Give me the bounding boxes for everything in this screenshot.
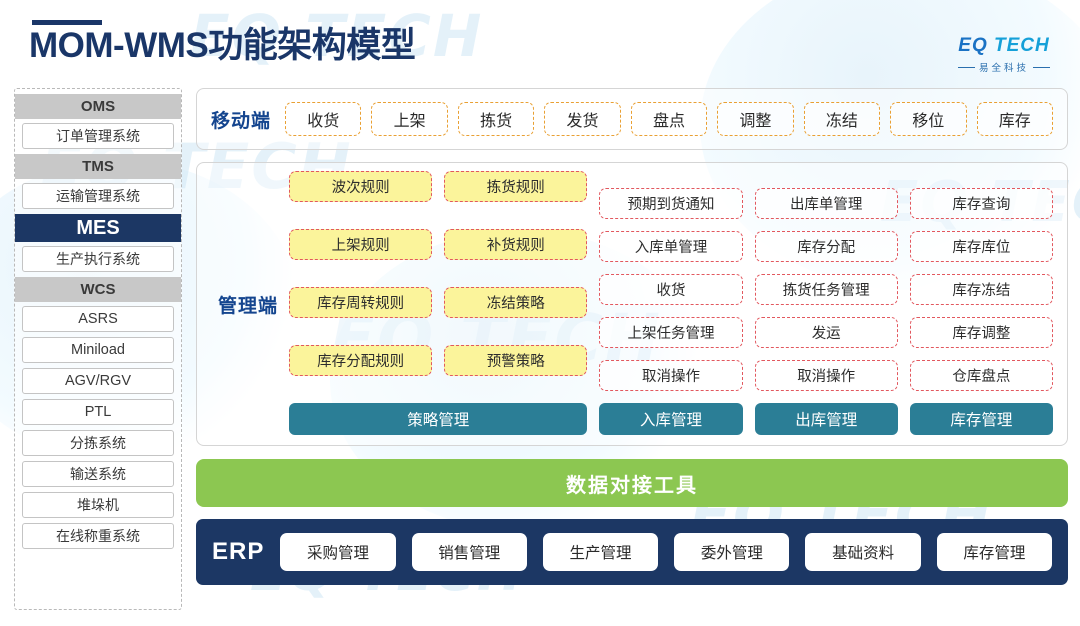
management-cell[interactable]: 预期到货通知 (599, 188, 742, 219)
management-cell[interactable]: 补货规则 (444, 229, 587, 260)
mobile-chip[interactable]: 收货 (285, 102, 361, 136)
management-footer-button[interactable]: 库存管理 (910, 403, 1053, 435)
erp-chip[interactable]: 生产管理 (543, 533, 658, 571)
management-footer-button[interactable]: 出库管理 (755, 403, 898, 435)
erp-chip[interactable]: 基础资料 (805, 533, 920, 571)
management-footer-button[interactable]: 策略管理 (289, 403, 587, 435)
erp-chip[interactable]: 库存管理 (937, 533, 1052, 571)
mobile-chip[interactable]: 库存 (977, 102, 1053, 136)
sidebar-item[interactable]: 堆垛机 (22, 492, 174, 518)
main-content: 移动端 收货上架拣货发货盘点调整冻结移位库存 管理端 波次规则上架规则库存周转规… (196, 88, 1068, 585)
systems-sidebar: OMS订单管理系统TMS运输管理系统MES生产执行系统WCSASRSMinilo… (14, 88, 182, 610)
mobile-chip[interactable]: 调整 (717, 102, 793, 136)
sidebar-item[interactable]: 在线称重系统 (22, 523, 174, 549)
management-cell[interactable]: 取消操作 (599, 360, 742, 391)
mobile-chip[interactable]: 拣货 (458, 102, 534, 136)
management-cell[interactable]: 波次规则 (289, 171, 432, 202)
management-cell[interactable]: 上架规则 (289, 229, 432, 260)
erp-chip-list: 采购管理销售管理生产管理委外管理基础资料库存管理 (280, 533, 1052, 571)
title-accent-rule (32, 20, 102, 25)
management-cell[interactable]: 冻结策略 (444, 287, 587, 318)
management-panel-label: 管理端 (207, 291, 289, 318)
management-column: 出库单管理库存分配拣货任务管理发运取消操作 (755, 171, 898, 403)
sidebar-item[interactable]: ASRS (22, 306, 174, 332)
sidebar-item[interactable]: PTL (22, 399, 174, 425)
page-header: MOM-WMS功能架构模型 EQ TECH 易全科技 (0, 0, 1080, 88)
logo-subtitle-text: 易全科技 (979, 60, 1029, 74)
sidebar-item[interactable]: Miniload (22, 337, 174, 363)
erp-label: ERP (212, 538, 264, 566)
management-column: 库存查询库存库位库存冻结库存调整仓库盘点 (910, 171, 1053, 403)
management-cell[interactable]: 库存库位 (910, 231, 1053, 262)
logo-mark-right: TECH (994, 35, 1050, 56)
management-grid: 波次规则上架规则库存周转规则库存分配规则拣货规则补货规则冻结策略预警策略预期到货… (289, 163, 1053, 445)
management-cell[interactable]: 出库单管理 (755, 188, 898, 219)
logo-mark-left: EQ (958, 35, 987, 56)
sidebar-group-header-wcs[interactable]: WCS (15, 277, 181, 302)
mobile-panel-label: 移动端 (211, 106, 271, 133)
management-cell[interactable]: 入库单管理 (599, 231, 742, 262)
management-cell[interactable]: 拣货规则 (444, 171, 587, 202)
page-title: MOM-WMS功能架构模型 (29, 28, 415, 63)
management-cell[interactable]: 预警策略 (444, 345, 587, 376)
sidebar-group-header-tms[interactable]: TMS (15, 154, 181, 179)
data-integration-bar[interactable]: 数据对接工具 (196, 459, 1068, 507)
management-cell[interactable]: 库存调整 (910, 317, 1053, 348)
management-cell[interactable]: 拣货任务管理 (755, 274, 898, 305)
mobile-chip[interactable]: 移位 (890, 102, 966, 136)
management-column: 预期到货通知入库单管理收货上架任务管理取消操作 (599, 171, 742, 403)
data-integration-label: 数据对接工具 (566, 469, 698, 498)
sidebar-item[interactable]: 输送系统 (22, 461, 174, 487)
mobile-chip[interactable]: 冻结 (804, 102, 880, 136)
management-cell[interactable]: 库存冻结 (910, 274, 1053, 305)
management-cell[interactable]: 发运 (755, 317, 898, 348)
sidebar-group-header-mes[interactable]: MES (15, 214, 181, 242)
management-footer-button[interactable]: 入库管理 (599, 403, 742, 435)
management-cell[interactable]: 库存分配 (755, 231, 898, 262)
management-cell[interactable]: 仓库盘点 (910, 360, 1053, 391)
management-cell[interactable]: 上架任务管理 (599, 317, 742, 348)
sidebar-group-header-oms[interactable]: OMS (15, 94, 181, 119)
management-column: 拣货规则补货规则冻结策略预警策略 (444, 171, 587, 403)
sidebar-item[interactable]: 分拣系统 (22, 430, 174, 456)
management-column: 波次规则上架规则库存周转规则库存分配规则 (289, 171, 432, 403)
management-cell[interactable]: 库存查询 (910, 188, 1053, 219)
management-cell[interactable]: 取消操作 (755, 360, 898, 391)
logo-subtitle: 易全科技 (944, 60, 1064, 74)
mobile-chip[interactable]: 盘点 (631, 102, 707, 136)
sidebar-item[interactable]: 生产执行系统 (22, 246, 174, 272)
sidebar-item[interactable]: 订单管理系统 (22, 123, 174, 149)
management-cell[interactable]: 库存周转规则 (289, 287, 432, 318)
logo-wordmark: EQ TECH (944, 36, 1064, 55)
erp-chip[interactable]: 采购管理 (280, 533, 395, 571)
erp-bar: ERP 采购管理销售管理生产管理委外管理基础资料库存管理 (196, 519, 1068, 585)
company-logo: EQ TECH 易全科技 (944, 36, 1064, 74)
sidebar-item[interactable]: AGV/RGV (22, 368, 174, 394)
erp-chip[interactable]: 委外管理 (674, 533, 789, 571)
mobile-chip-list: 收货上架拣货发货盘点调整冻结移位库存 (285, 102, 1053, 136)
erp-chip[interactable]: 销售管理 (412, 533, 527, 571)
management-cell[interactable]: 库存分配规则 (289, 345, 432, 376)
sidebar-item[interactable]: 运输管理系统 (22, 183, 174, 209)
mobile-panel: 移动端 收货上架拣货发货盘点调整冻结移位库存 (196, 88, 1068, 150)
mobile-chip[interactable]: 上架 (371, 102, 447, 136)
management-panel: 管理端 波次规则上架规则库存周转规则库存分配规则拣货规则补货规则冻结策略预警策略… (196, 162, 1068, 446)
mobile-chip[interactable]: 发货 (544, 102, 620, 136)
management-cell[interactable]: 收货 (599, 274, 742, 305)
